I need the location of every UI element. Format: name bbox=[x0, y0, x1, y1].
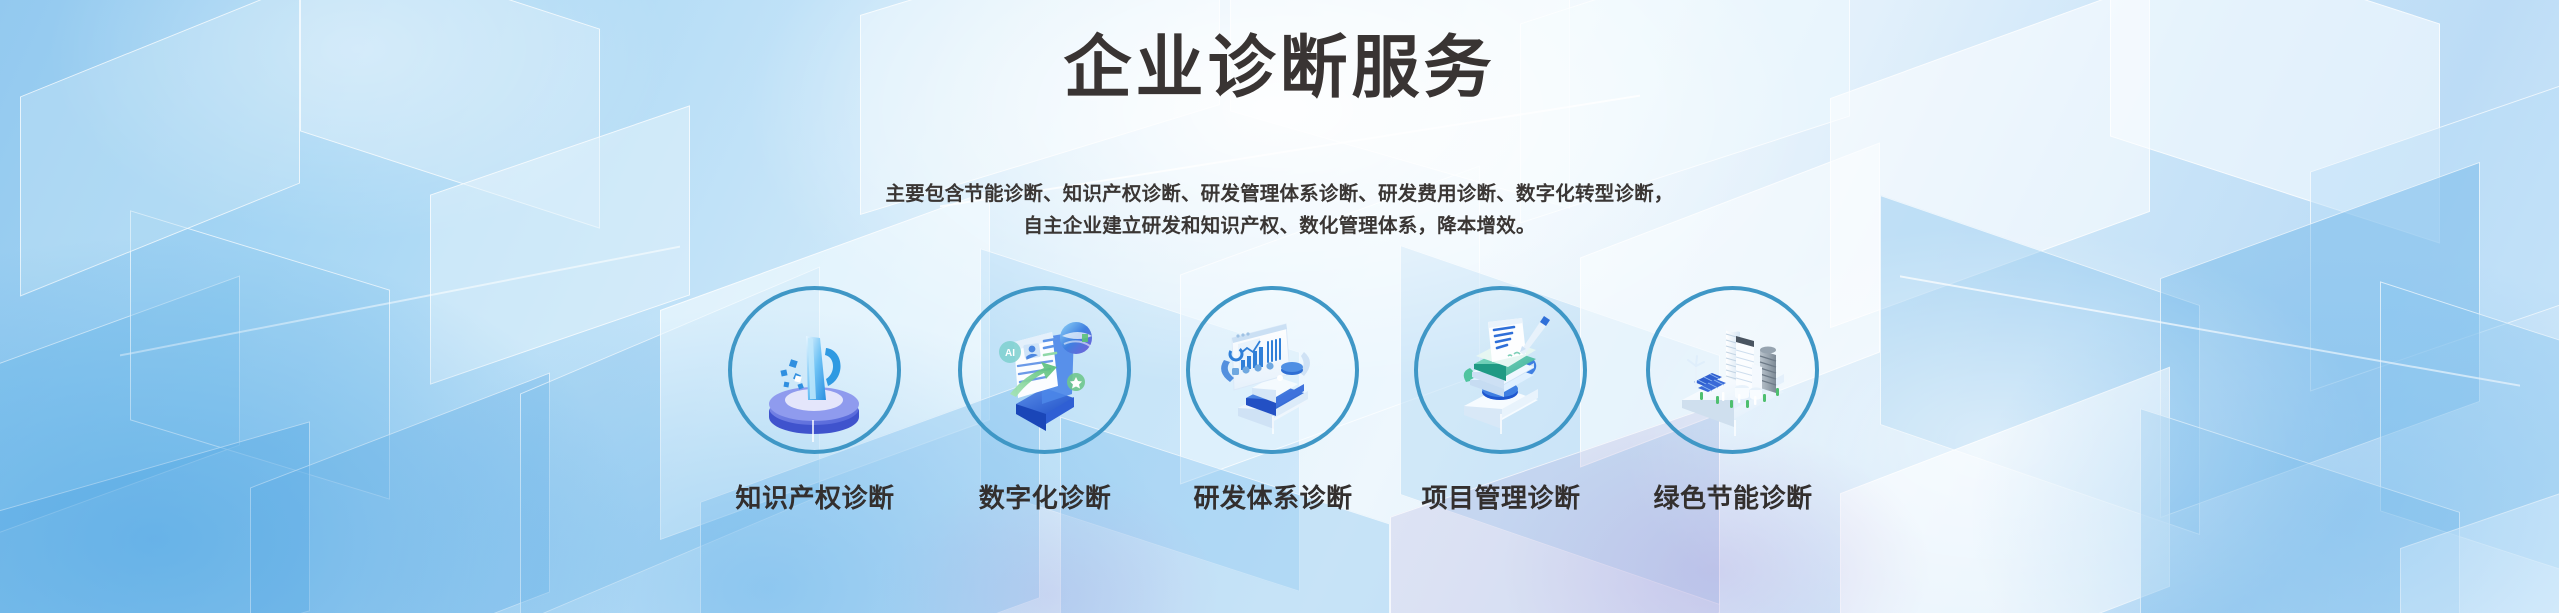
service-label: 数字化诊断 bbox=[928, 478, 1162, 515]
service-item-green-energy-diagnosis[interactable]: 绿色节能诊断 bbox=[1628, 282, 1838, 532]
service-label: 研发体系诊断 bbox=[1156, 478, 1390, 515]
service-label: 项目管理诊断 bbox=[1384, 478, 1618, 515]
service-item-ip-diagnosis[interactable]: 知识产权诊断 bbox=[710, 282, 920, 532]
green-energy-city-icon bbox=[1668, 308, 1798, 436]
signed-documents-icon bbox=[1436, 308, 1566, 436]
page-subtitle: 主要包含节能诊断、知识产权诊断、研发管理体系诊断、研发费用诊断、数字化转型诊断，… bbox=[830, 178, 1730, 242]
service-item-digital-diagnosis[interactable]: AI 数字化诊断 bbox=[940, 282, 1150, 532]
subtitle-line-1: 主要包含节能诊断、知识产权诊断、研发管理体系诊断、研发费用诊断、数字化转型诊断， bbox=[830, 178, 1730, 210]
service-item-project-management-diagnosis[interactable]: 项目管理诊断 bbox=[1396, 282, 1606, 532]
service-icon-row: 知识产权诊断 bbox=[700, 282, 1860, 532]
service-label: 知识产权诊断 bbox=[698, 478, 932, 515]
subtitle-line-2: 自主企业建立研发和知识产权、数化管理体系，降本增效。 bbox=[830, 210, 1730, 242]
analytics-dashboard-icon bbox=[1208, 308, 1338, 436]
page-title: 企业诊断服务 bbox=[0, 34, 2559, 102]
patent-trophy-icon bbox=[750, 308, 880, 436]
svg-text:AI: AI bbox=[1005, 348, 1015, 359]
service-item-rd-system-diagnosis[interactable]: 研发体系诊断 bbox=[1168, 282, 1378, 532]
enterprise-diagnosis-banner: 企业诊断服务 主要包含节能诊断、知识产权诊断、研发管理体系诊断、研发费用诊断、数… bbox=[0, 0, 2559, 613]
service-label: 绿色节能诊断 bbox=[1616, 478, 1850, 515]
digital-document-globe-icon: AI bbox=[980, 308, 1110, 436]
